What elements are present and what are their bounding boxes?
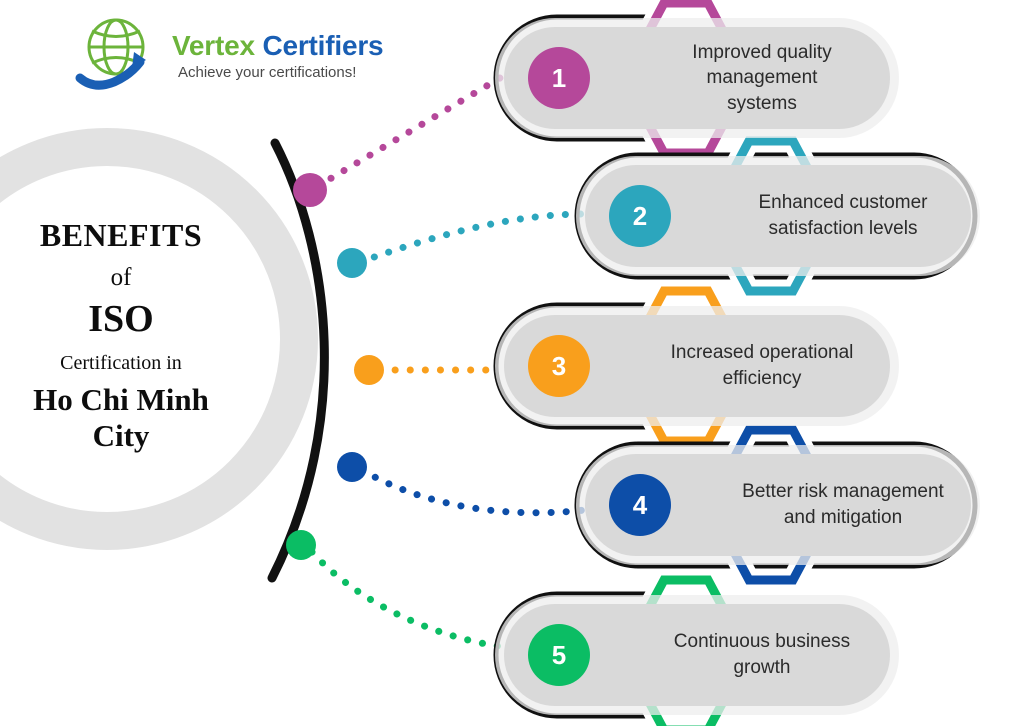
- spine-dot-3[interactable]: [354, 355, 384, 385]
- connector-line-4: [362, 470, 600, 513]
- benefit-number-badge-1: 1: [528, 47, 590, 109]
- benefit-number-badge-2: 2: [609, 185, 671, 247]
- benefit-label-3: Increased operational efficiency: [642, 315, 882, 417]
- benefit-card-2[interactable]: 2Enhanced customer satisfaction levels: [575, 153, 975, 279]
- benefit-number-badge-4: 4: [609, 474, 671, 536]
- benefit-label-5: Continuous business growth: [642, 604, 882, 706]
- benefit-number-badge-3: 3: [528, 335, 590, 397]
- connector-line-1: [318, 78, 500, 186]
- spine-dot-2[interactable]: [337, 248, 367, 278]
- benefit-label-1: Improved quality management systems: [642, 27, 882, 129]
- connector-line-5: [312, 552, 512, 648]
- benefit-card-1[interactable]: 1Improved quality management systems: [494, 15, 894, 141]
- spine-dot-4[interactable]: [337, 452, 367, 482]
- spine-dot-5[interactable]: [286, 530, 316, 560]
- spine-dot-1[interactable]: [293, 173, 327, 207]
- connector-line-2: [360, 214, 586, 262]
- benefit-number-badge-5: 5: [528, 624, 590, 686]
- benefit-card-3[interactable]: 3Increased operational efficiency: [494, 303, 894, 429]
- benefit-label-4: Better risk management and mitigation: [723, 454, 963, 556]
- infographic-canvas: Vertex Certifiers Achieve your certifica…: [0, 0, 1024, 726]
- benefit-card-5[interactable]: 5Continuous business growth: [494, 592, 894, 718]
- benefit-card-4[interactable]: 4Better risk management and mitigation: [575, 442, 975, 568]
- benefit-label-2: Enhanced customer satisfaction levels: [723, 165, 963, 267]
